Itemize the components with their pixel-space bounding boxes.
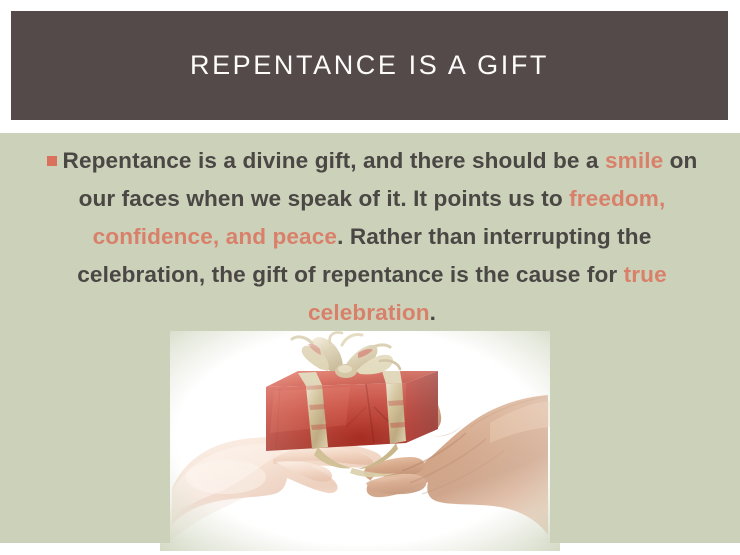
content-text-block: Repentance is a divine gift, and there s… <box>26 142 718 332</box>
bullet-paragraph: Repentance is a divine gift, and there s… <box>26 142 718 332</box>
highlight-smile: smile <box>605 148 663 173</box>
paragraph-run-1: Repentance is a divine gift, and there s… <box>63 148 605 173</box>
slide: Repentance is a Gift Repentance is a div… <box>0 0 740 555</box>
square-bullet-icon <box>47 156 57 166</box>
page-title: Repentance is a Gift <box>190 50 549 81</box>
title-bar: Repentance is a Gift <box>11 11 728 120</box>
gift-exchange-photo <box>170 331 550 543</box>
paragraph-run-4: . <box>430 300 436 325</box>
gift-exchange-illustration <box>170 331 550 543</box>
